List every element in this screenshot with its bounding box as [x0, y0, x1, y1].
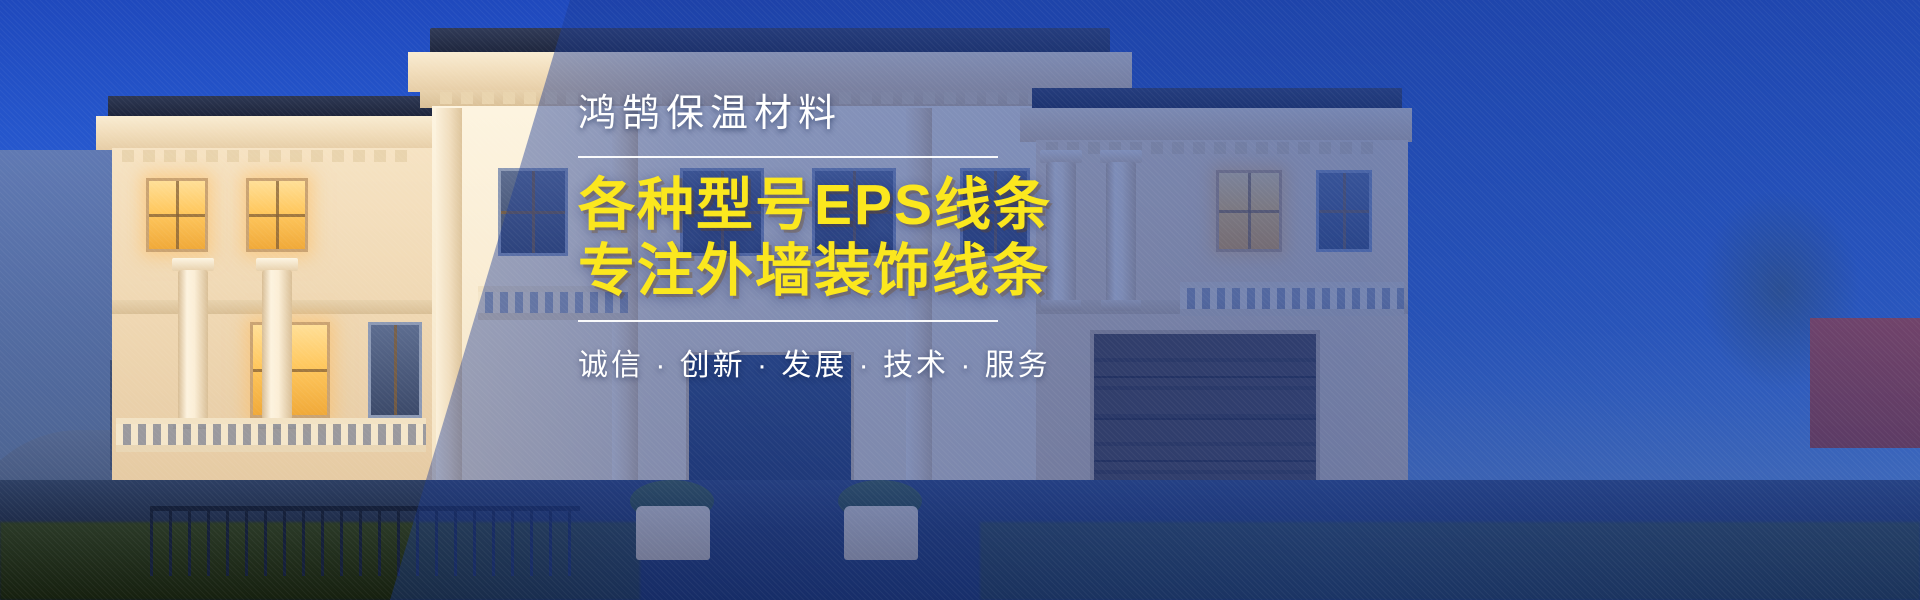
divider-bottom: [578, 320, 998, 322]
window-left-upper-2: [246, 178, 308, 252]
slogan-text: 诚信 · 创新 · 发展 · 技术 · 服务: [578, 340, 1338, 384]
brand-name: 鸿鹄保温材料: [578, 92, 1338, 138]
window-left-upper-1: [146, 178, 208, 252]
headline-line-1: 各种型号EPS线条: [578, 172, 1338, 238]
divider-top: [578, 156, 998, 158]
left-wing-cornice: [96, 116, 444, 150]
left-wing-dentils: [122, 150, 407, 162]
balustrade-left: [116, 418, 426, 452]
window-left-lower-2: [368, 322, 422, 418]
headline-line-2: 专注外墙装饰线条: [578, 238, 1338, 304]
column-4: [262, 270, 292, 420]
banner-copy: 鸿鹄保温材料 各种型号EPS线条 专注外墙装饰线条 诚信 · 创新 · 发展 ·…: [578, 92, 1338, 384]
column-3: [178, 270, 208, 420]
promo-banner: 鸿鹄保温材料 各种型号EPS线条 专注外墙装饰线条 诚信 · 创新 · 发展 ·…: [0, 0, 1920, 600]
left-wing-roof: [108, 96, 438, 118]
